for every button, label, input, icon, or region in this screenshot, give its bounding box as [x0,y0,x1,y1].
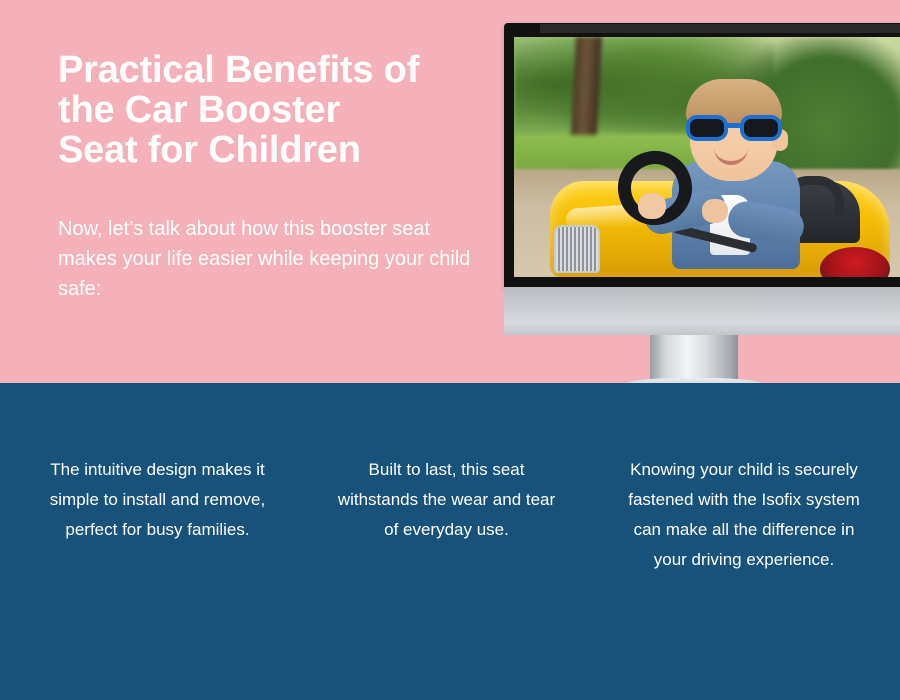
hero-subtitle: Now, let’s talk about how this booster s… [58,214,478,304]
benefit-text: Knowing your child is securely fastened … [618,455,870,575]
sunglasses-bridge [727,123,741,128]
monitor-stand-neck [650,335,738,383]
toy-car-grille [554,225,600,273]
sunglasses-left-lens [686,115,728,141]
benefits-columns: The intuitive design makes it simple to … [0,383,900,641]
child-right-hand [702,199,728,223]
child-left-hand [638,193,666,219]
monitor-chin [504,287,900,335]
page-title: Practical Benefits of the Car Booster Se… [58,50,478,170]
benefit-column-isofix-safety: Knowing your child is securely fastened … [588,383,900,641]
child-in-toy-car-photo [514,37,900,277]
monitor-illustration [504,23,900,383]
benefits-section: The intuitive design makes it simple to … [0,383,900,700]
benefit-column-ease-of-installation: The intuitive design makes it simple to … [0,383,305,641]
benefit-column-durability: Built to last, this seat withstands the … [305,383,588,641]
monitor-screen [514,37,900,277]
infographic-root: Practical Benefits of the Car Booster Se… [0,0,900,700]
benefit-text: The intuitive design makes it simple to … [40,455,275,545]
sunglasses-right-lens [740,115,782,141]
monitor-bezel-highlight [540,24,900,33]
benefit-text: Built to last, this seat withstands the … [333,455,560,545]
blue-sunglasses-icon [686,115,782,141]
hero-section: Practical Benefits of the Car Booster Se… [0,0,900,383]
